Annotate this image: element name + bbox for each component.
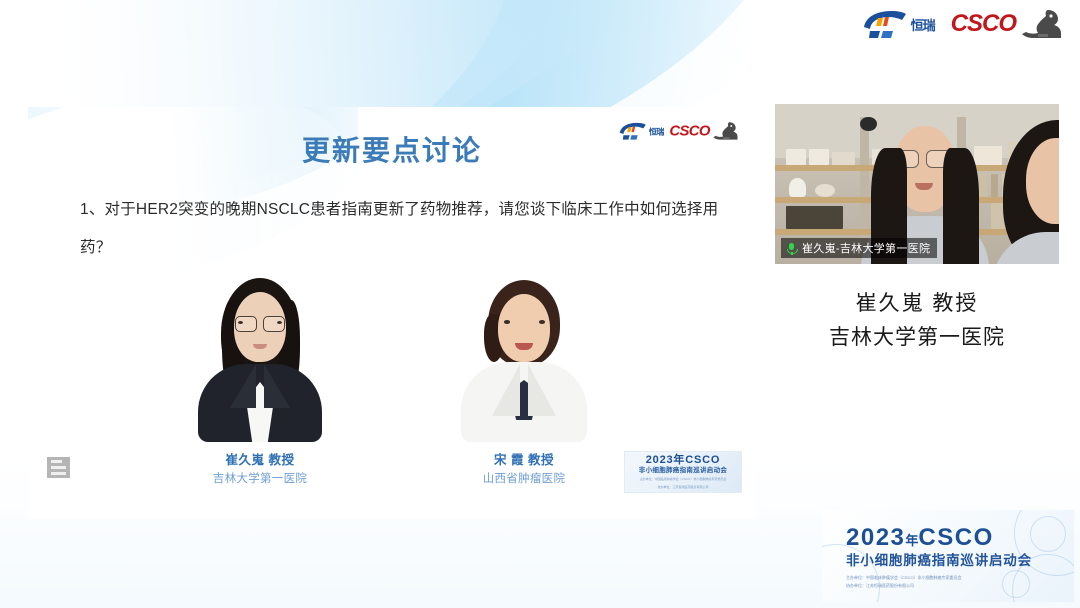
portrait-item: 宋 霞 教授 山西省肿瘤医院	[448, 270, 600, 486]
event-banner-year-suffix: 年	[905, 533, 918, 548]
screen-root: 恒瑞 CSCO 恒瑞	[0, 0, 1080, 608]
event-banner-year: 2023	[846, 524, 905, 551]
csco-logo: CSCO	[951, 8, 1062, 40]
brand-logo-group: 恒瑞 CSCO	[862, 8, 1062, 40]
csco-logo-text: CSCO	[951, 10, 1016, 38]
hengrui-logo-text: 恒瑞	[911, 15, 935, 34]
speaker-name-text: 崔久嵬 教授	[775, 287, 1059, 317]
event-banner-subtitle: 非小细胞肺癌指南巡讲启动会	[846, 554, 1032, 568]
hengrui-logo: 恒瑞	[862, 9, 935, 39]
speaker-org-text: 吉林大学第一医院	[775, 321, 1059, 351]
list-icon[interactable]	[47, 457, 70, 478]
doctor-photo-1	[194, 270, 326, 442]
video-participant-label: 崔久嵬-吉林大学第一医院	[781, 238, 937, 258]
discussion-question: 1、对于HER2突变的晚期NSCLC患者指南更新了药物推荐，请您谈下临床工作中如…	[80, 191, 720, 267]
event-banner-title: 2023年CSCO	[846, 526, 994, 550]
hengrui-mark-icon	[862, 9, 908, 39]
doctor-org-2: 山西省肿瘤医院	[448, 470, 600, 486]
slide-badge-line1: 2023年CSCO	[646, 455, 720, 466]
doctor-name-1: 崔久嵬 教授	[184, 449, 336, 468]
doctor-name-2: 宋 霞 教授	[448, 449, 600, 468]
slide-event-badge: 2023年CSCO 非小细胞肺癌指南巡讲启动会 主办单位：中国临床肿瘤学会（CS…	[624, 451, 742, 493]
event-banner-brand: CSCO	[918, 524, 993, 551]
doctor-org-1: 吉林大学第一医院	[184, 470, 336, 486]
event-banner-note2: 协办单位：江苏恒瑞医药股份有限公司	[846, 582, 914, 590]
presentation-slide[interactable]: 恒瑞 CSCO 更新要点讨论 1、对于HER2突变的晚期NSCLC患者指南更新了…	[28, 107, 756, 519]
doctor-photo-2	[458, 270, 590, 442]
video-participant-name: 崔久嵬-吉林大学第一医院	[802, 240, 930, 256]
slide-title: 更新要点讨论	[28, 129, 756, 169]
speaker-info: 崔久嵬 教授 吉林大学第一医院	[775, 287, 1059, 351]
event-banner-note1: 主办单位：中国临床肿瘤学会（CSCO）非小细胞肺癌专家委员会	[846, 574, 962, 582]
event-banner: 2023年CSCO 非小细胞肺癌指南巡讲启动会 主办单位：中国临床肿瘤学会（CS…	[822, 510, 1074, 602]
csco-dragon-icon	[1018, 8, 1062, 40]
video-hair-right	[943, 148, 979, 264]
slide-badge-line2: 非小细胞肺癌指南巡讲启动会	[639, 468, 727, 475]
microphone-icon	[785, 242, 798, 255]
slide-badge-line3: 主办单位：中国临床肿瘤学会（CSCO）非小细胞肺癌专家委员会	[640, 477, 727, 482]
slide-badge-line4: 协办单位：江苏恒瑞医药股份有限公司	[657, 485, 708, 490]
speaker-video-feed[interactable]: 崔久嵬-吉林大学第一医院	[775, 104, 1059, 264]
portrait-item: 崔久嵬 教授 吉林大学第一医院	[184, 270, 336, 486]
